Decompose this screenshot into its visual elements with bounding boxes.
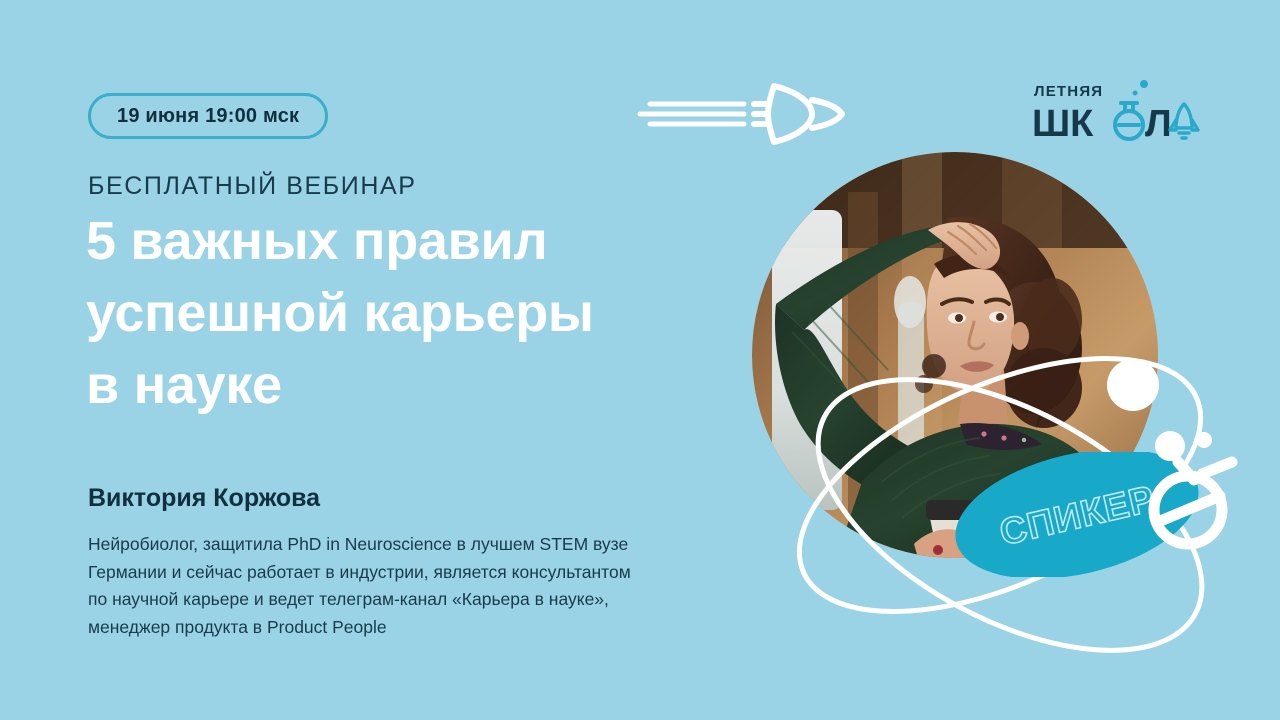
logo-line2-part2-text: Л <box>1145 103 1172 144</box>
logo-line1-text: ЛЕТНЯЯ <box>1034 83 1103 100</box>
headline-line-2: успешной карьеры <box>86 277 726 349</box>
flask-icon <box>1136 418 1256 558</box>
headline-line-1: 5 важных правил <box>86 205 726 277</box>
speaker-bio-line-4: менеджер продукта в Product People <box>88 614 728 642</box>
logo-flask-icon <box>1115 103 1143 139</box>
page-title: 5 важных правил успешной карьеры в науке <box>86 205 726 421</box>
webinar-promo-banner: ЛЕТНЯЯ ШК Л <box>0 0 1280 720</box>
speaker-name: Виктория Коржова <box>88 484 320 513</box>
eyebrow-label: БЕСПЛАТНЫЙ ВЕБИНАР <box>88 172 417 201</box>
summer-school-logo: ЛЕТНЯЯ ШК Л <box>1032 76 1202 144</box>
date-badge-text: 19 июня 19:00 мск <box>117 105 299 128</box>
speaker-bio-line-2: Германии и сейчас работает в индустрии, … <box>88 559 728 587</box>
headline-line-3: в науке <box>86 349 726 421</box>
date-badge: 19 июня 19:00 мск <box>88 93 328 139</box>
speaker-bio: Нейробиолог, защитила PhD in Neuroscienc… <box>88 531 728 641</box>
rocket-icon <box>636 74 856 154</box>
speaker-bio-line-3: по научной карьере и ведет телеграм-кана… <box>88 586 728 614</box>
logo-line2-part1-text: ШК <box>1032 103 1094 144</box>
logo-rocket-icon <box>1170 104 1198 138</box>
speaker-bio-line-1: Нейробиолог, защитила PhD in Neuroscienc… <box>88 531 728 559</box>
